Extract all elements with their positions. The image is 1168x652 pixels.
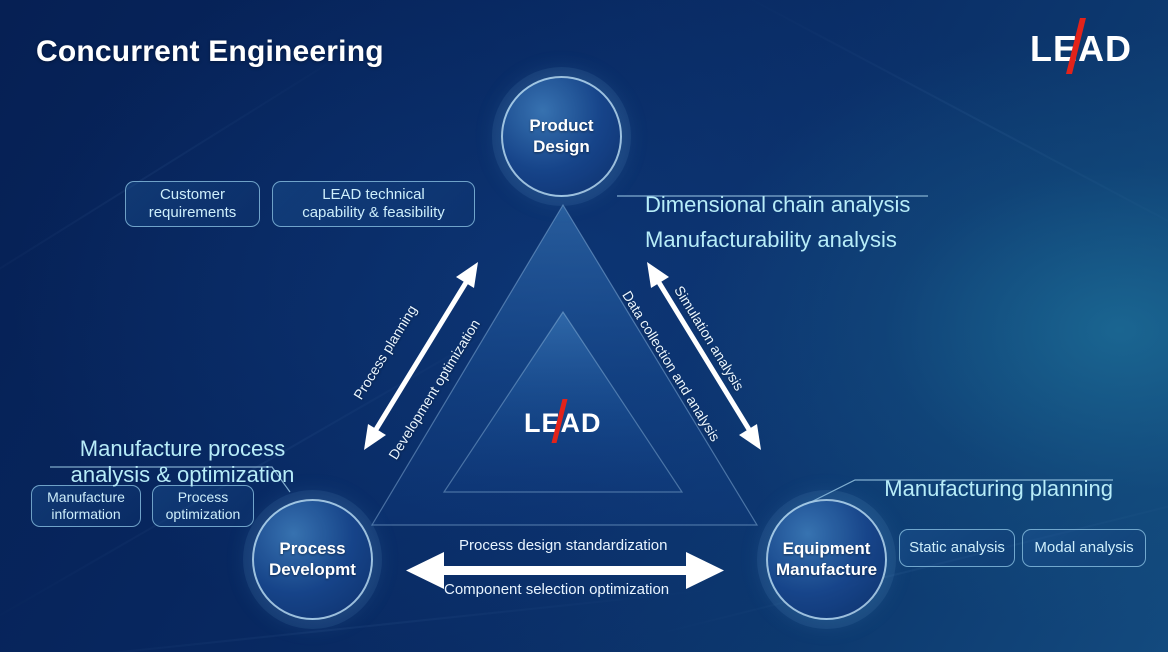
heading-text: Manufacturing planning bbox=[884, 476, 1113, 501]
lead-logo-corner: LEAD bbox=[1030, 28, 1132, 70]
node-equipment-manufacture[interactable]: Equipment Manufacture bbox=[766, 499, 887, 620]
arrow-label-process-planning: Process planning bbox=[350, 302, 420, 402]
heading-manufacture-process-analysis: Manufacture process analysis & optimizat… bbox=[50, 410, 315, 488]
box-static-analysis[interactable]: Static analysis bbox=[899, 529, 1015, 567]
box-customer-requirements[interactable]: Customer requirements bbox=[125, 181, 260, 227]
page-title: Concurrent Engineering bbox=[36, 35, 384, 69]
node-label: Product Design bbox=[529, 116, 593, 157]
node-label: Process Developmt bbox=[269, 539, 356, 580]
node-label: Equipment Manufacture bbox=[776, 539, 877, 580]
outer-triangle bbox=[372, 205, 757, 525]
box-lead-technical-capability[interactable]: LEAD technical capability & feasibility bbox=[272, 181, 475, 227]
box-manufacture-information[interactable]: Manufacture information bbox=[31, 485, 141, 527]
box-label: LEAD technical capability & feasibility bbox=[302, 186, 445, 221]
box-label: Static analysis bbox=[909, 539, 1005, 557]
node-process-development[interactable]: Process Developmt bbox=[252, 499, 373, 620]
heading-text: Manufacture process analysis & optimizat… bbox=[71, 436, 295, 487]
heading-text: Manufacturability analysis bbox=[645, 227, 897, 252]
box-process-optimization[interactable]: Process optimization bbox=[152, 485, 254, 527]
arrow-label-text: Component selection optimization bbox=[444, 581, 669, 598]
box-modal-analysis[interactable]: Modal analysis bbox=[1022, 529, 1146, 567]
arrow-label-text: Data collection and analysis bbox=[619, 288, 723, 444]
heading-manufacturability-analysis: Manufacturability analysis bbox=[645, 201, 897, 253]
box-label: Customer requirements bbox=[149, 186, 237, 221]
box-label: Manufacture information bbox=[47, 489, 125, 522]
arrow-label-text: Process planning bbox=[350, 302, 420, 402]
arrow-label-text: Process design standardization bbox=[459, 537, 667, 554]
arrow-label-component-selection-optimization: Component selection optimization bbox=[444, 581, 669, 598]
arrow-label-process-design-standardization: Process design standardization bbox=[459, 537, 667, 554]
heading-manufacturing-planning: Manufacturing planning bbox=[813, 450, 1113, 502]
box-label: Modal analysis bbox=[1034, 539, 1133, 557]
lead-logo-center: LEAD bbox=[524, 408, 602, 439]
box-label: Process optimization bbox=[166, 489, 241, 522]
arrow-label-data-collection-and-analysis: Data collection and analysis bbox=[619, 288, 723, 444]
node-product-design[interactable]: Product Design bbox=[501, 76, 622, 197]
slide-canvas: Concurrent Engineering LEAD LEAD Product… bbox=[0, 0, 1168, 652]
